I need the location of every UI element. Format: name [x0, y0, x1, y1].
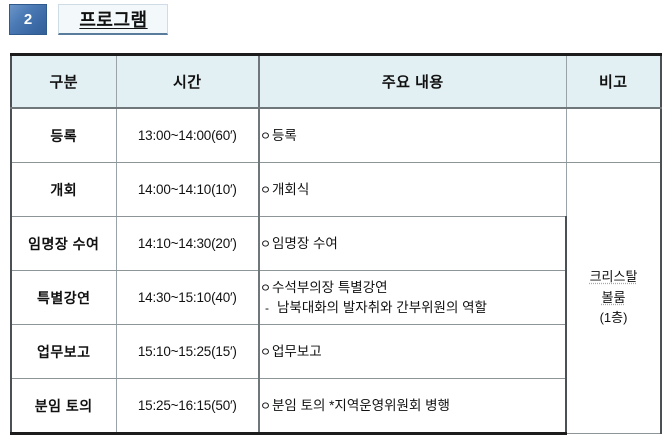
bullet-marker: ㅇ [260, 344, 272, 361]
content-line: ㅇ업무보고 [260, 342, 565, 362]
content-line: ㅇ개회식 [260, 180, 566, 200]
cell-note-empty [566, 108, 661, 163]
cell-note-merged: 크리스탈 볼룸 (1층) [566, 163, 661, 434]
table-header-row: 구분 시간 주요 내용 비고 [11, 55, 661, 109]
cell-content: ㅇ수석부의장 특별강연 -남북대화의 발자취와 간부위원의 역할 [259, 271, 566, 325]
cell-time: 15:10~15:25(15′) [116, 325, 259, 379]
content-subline: -남북대화의 발자취와 간부위원의 역할 [260, 298, 565, 318]
content-line: ㅇ수석부의장 특별강연 [260, 278, 565, 298]
dash-marker: - [265, 300, 277, 317]
table-row: 분임 토의 15:25~16:15(50′) ㅇ분임 토의 *지역운영위원회 병… [11, 379, 661, 434]
content-text: 임명장 수여 [272, 236, 338, 251]
column-header-content: 주요 내용 [259, 55, 566, 109]
cell-division: 등록 [11, 108, 116, 163]
table-row: 임명장 수여 14:10~14:30(20′) ㅇ임명장 수여 [11, 217, 661, 271]
cell-division: 특별강연 [11, 271, 116, 325]
content-line: ㅇ분임 토의 *지역운영위원회 병행 [260, 396, 565, 416]
cell-content: ㅇ분임 토의 *지역운영위원회 병행 [259, 379, 566, 434]
note-line-room: 볼룸 [567, 288, 660, 309]
content-line: ㅇ임명장 수여 [260, 234, 565, 254]
cell-time: 13:00~14:00(60′) [116, 108, 259, 163]
table-row: 업무보고 15:10~15:25(15′) ㅇ업무보고 [11, 325, 661, 379]
content-line: ㅇ등록 [260, 126, 566, 146]
cell-time: 14:00~14:10(10′) [116, 163, 259, 217]
content-subtext: 남북대화의 발자취와 간부위원의 역할 [277, 300, 487, 315]
bullet-marker: ㅇ [260, 398, 272, 415]
content-text: 수석부의장 특별강연 [272, 280, 388, 295]
content-text: 등록 [272, 128, 297, 143]
table-row: 개회 14:00~14:10(10′) ㅇ개회식 크리스탈 볼룸 (1층) [11, 163, 661, 217]
cell-content: ㅇ업무보고 [259, 325, 566, 379]
section-heading: 2 프로그램 [9, 4, 168, 35]
cell-division: 임명장 수여 [11, 217, 116, 271]
program-table: 구분 시간 주요 내용 비고 등록 13:00~14:00(60′) ㅇ등록 개… [10, 53, 662, 435]
cell-time: 15:25~16:15(50′) [116, 379, 259, 434]
cell-content: ㅇ개회식 [259, 163, 566, 217]
cell-time: 14:10~14:30(20′) [116, 217, 259, 271]
content-text: 업무보고 [272, 344, 322, 359]
content-text: 분임 토의 *지역운영위원회 병행 [272, 398, 450, 413]
column-header-time: 시간 [116, 55, 259, 109]
page-title: 프로그램 [79, 6, 147, 32]
cell-division: 분임 토의 [11, 379, 116, 434]
bullet-marker: ㅇ [260, 236, 272, 253]
bullet-marker: ㅇ [260, 128, 272, 145]
note-line-floor: (1층) [567, 308, 660, 329]
column-header-division: 구분 [11, 55, 116, 109]
content-text: 개회식 [272, 182, 309, 197]
bullet-marker: ㅇ [260, 280, 272, 297]
cell-content: ㅇ임명장 수여 [259, 217, 566, 271]
table-row: 등록 13:00~14:00(60′) ㅇ등록 [11, 108, 661, 163]
cell-content: ㅇ등록 [259, 108, 566, 163]
table-row: 특별강연 14:30~15:10(40′) ㅇ수석부의장 특별강연 -남북대화의… [11, 271, 661, 325]
column-header-note: 비고 [566, 55, 661, 109]
cell-division: 개회 [11, 163, 116, 217]
cell-time: 14:30~15:10(40′) [116, 271, 259, 325]
note-line-venue: 크리스탈 [567, 267, 660, 288]
bullet-marker: ㅇ [260, 182, 272, 199]
cell-division: 업무보고 [11, 325, 116, 379]
section-number-badge: 2 [9, 4, 47, 35]
section-title-box: 프로그램 [58, 4, 168, 35]
